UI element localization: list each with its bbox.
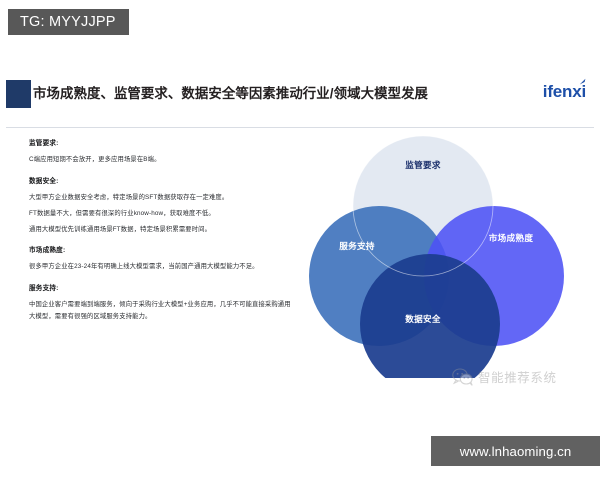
block-line: 中国企业客户需要端到端服务，倾向于采购行业大模型+业务应用，几乎不可能直接采购通…	[29, 299, 294, 322]
venn-svg	[308, 128, 600, 378]
tg-watermark-badge: TG: MYYJJPP	[8, 9, 129, 35]
text-block-market-maturity: 市场成熟度: 很多甲方企业在23-24年有明确上线大模型需求，当前国产通用大模型…	[29, 245, 294, 274]
block-line: 大型甲方企业数据安全考虑，特定场景的SFT数据获取存在一定难度。	[29, 192, 294, 205]
factors-text-column: 监管要求: C端应用短期不会放开，更多应用场景在B端。 数据安全: 大型甲方企业…	[29, 138, 294, 331]
wechat-icon	[452, 368, 473, 386]
tg-watermark-label: TG: MYYJJPP	[20, 14, 116, 30]
wechat-watermark: 智能推荐系统	[452, 367, 557, 386]
block-line: FT数据量不大，但需要有很深的行业know-how，获取难度不低。	[29, 208, 294, 221]
wechat-watermark-label: 智能推荐系统	[478, 367, 557, 386]
text-block-service-support: 服务支持: 中国企业客户需要端到端服务，倾向于采购行业大模型+业务应用，几乎不可…	[29, 283, 294, 322]
ifenxi-logo: ifenxi	[543, 81, 586, 103]
text-block-regulatory: 监管要求: C端应用短期不会放开，更多应用场景在B端。	[29, 138, 294, 167]
slide-stage: TG: MYYJJPP 市场成熟度、监管要求、数据安全等因素推动行业/领域大模型…	[0, 0, 600, 480]
page-title: 市场成熟度、监管要求、数据安全等因素推动行业/领域大模型发展	[33, 82, 493, 106]
block-heading: 监管要求:	[29, 138, 294, 149]
venn-diagram: 监管要求 服务支持 市场成熟度 数据安全	[308, 128, 600, 378]
site-url-label: www.lnhaoming.cn	[460, 444, 572, 459]
header-accent-square	[6, 80, 31, 108]
logo-tick-icon	[579, 78, 587, 86]
slide-header: 市场成熟度、监管要求、数据安全等因素推动行业/领域大模型发展 ifenxi	[0, 77, 600, 115]
block-line: C端应用短期不会放开，更多应用场景在B端。	[29, 154, 294, 167]
block-heading: 服务支持:	[29, 283, 294, 294]
site-url-bar: www.lnhaoming.cn	[431, 436, 600, 466]
block-heading: 市场成熟度:	[29, 245, 294, 256]
block-heading: 数据安全:	[29, 176, 294, 187]
block-line: 很多甲方企业在23-24年有明确上线大模型需求，当前国产通用大模型能力不足。	[29, 261, 294, 274]
text-block-data-security: 数据安全: 大型甲方企业数据安全考虑，特定场景的SFT数据获取存在一定难度。 F…	[29, 176, 294, 237]
block-line: 通用大模型优先训练通用场景FT数据，特定场景积累需要时间。	[29, 224, 294, 237]
